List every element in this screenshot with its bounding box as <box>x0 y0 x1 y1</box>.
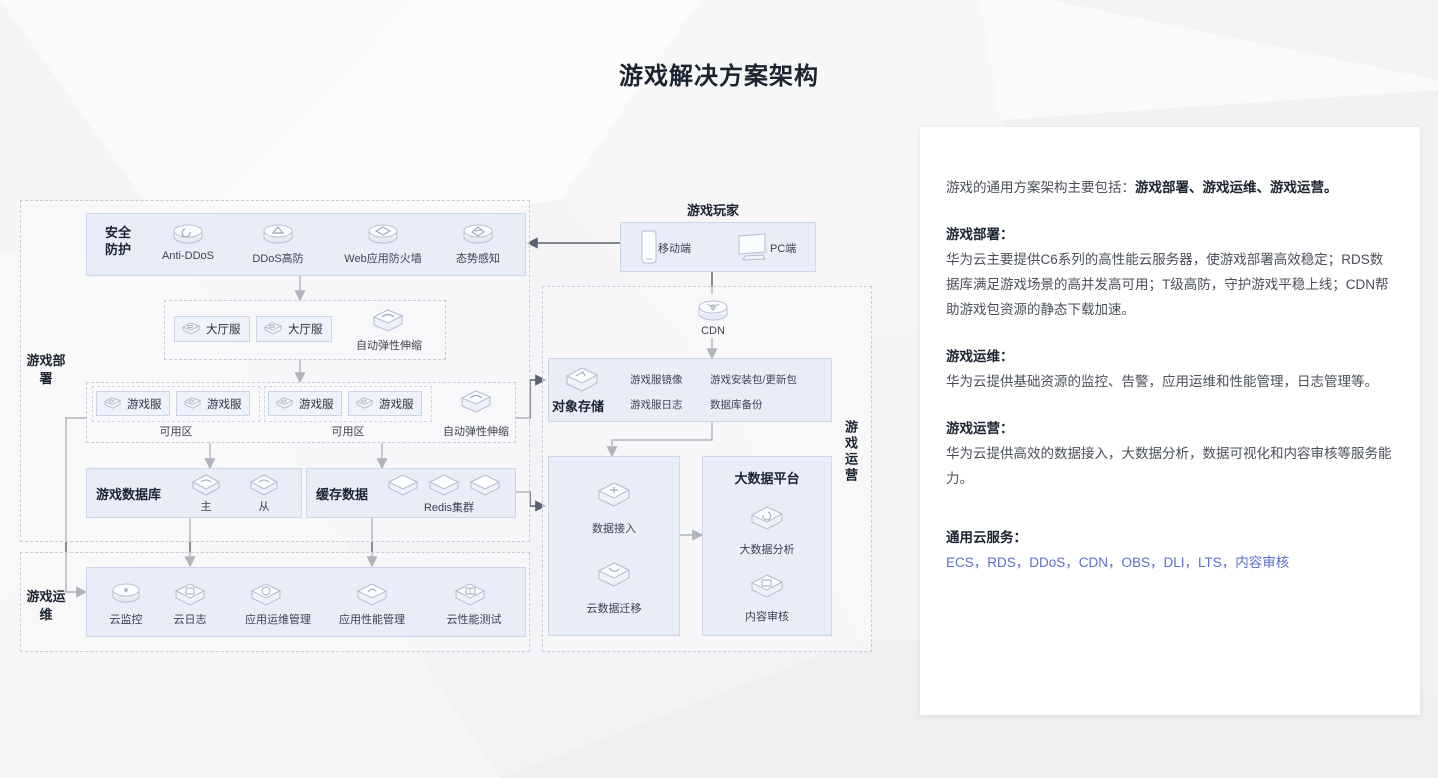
shield-disc-icon <box>168 218 208 253</box>
az-label-1: 可用区 <box>136 423 216 439</box>
players-client-label-0: 移动端 <box>658 240 708 256</box>
server-icon <box>355 396 374 411</box>
info-lead-bold: 游戏部署、游戏运维、游戏运营。 <box>1135 180 1338 195</box>
info-section-heading-2: 游戏运营： <box>946 416 1394 441</box>
maintenance-label-1: 云日志 <box>160 611 220 627</box>
game-server-1[interactable]: 游戏服 <box>176 391 250 416</box>
info-section-body-0: 华为云主要提供C6系列的高性能云服务器，使游戏部署高效稳定；RDS数据库满足游戏… <box>946 247 1394 322</box>
desktop-icon <box>735 230 771 269</box>
bigdata-label-1: 内容审核 <box>717 608 817 624</box>
obs-item-2: 游戏服日志 <box>630 397 720 412</box>
services-list[interactable]: ECS，RDS，DDoS，CDN，OBS，DLI，LTS，内容审核 <box>946 550 1394 576</box>
mobile-icon <box>638 228 660 271</box>
lobby-server-label-0: 大厅服 <box>206 321 241 337</box>
services-heading: 通用云服务： <box>946 525 1394 550</box>
obs-item-1: 游戏安装包/更新包 <box>710 372 830 387</box>
maintenance-label-3: 应用性能管理 <box>320 611 424 627</box>
data-intake-label-1: 云数据迁移 <box>564 600 664 616</box>
obs-item-0: 游戏服镜像 <box>630 372 720 387</box>
info-section-body-1: 华为云提供基础资源的监控、告警，应用运维和性能管理，日志管理等。 <box>946 369 1394 394</box>
info-section-services: 通用云服务： ECS，RDS，DDoS，CDN，OBS，DLI，LTS，内容审核 <box>946 525 1394 576</box>
game-server-0[interactable]: 游戏服 <box>96 391 170 416</box>
obs-item-3: 数据库备份 <box>710 397 830 412</box>
database-title: 游戏数据库 <box>96 486 161 503</box>
info-section-operation: 游戏运营： 华为云提供高效的数据接入，大数据分析，数据可视化和内容审核等服务能力… <box>946 416 1394 491</box>
lobby-server-1[interactable]: 大厅服 <box>256 316 332 342</box>
zone-label-game-operation: 游戏运营 <box>840 420 860 484</box>
security-item-label-2: Web应用防火墙 <box>333 250 433 266</box>
gameserver-autoscale-label: 自动弹性伸缩 <box>430 423 522 439</box>
game-server-label-1: 游戏服 <box>207 396 242 412</box>
info-section-heading-1: 游戏运维： <box>946 344 1394 369</box>
obs-icon <box>562 363 602 400</box>
cache-title: 缓存数据 <box>316 486 368 503</box>
server-icon <box>183 396 202 411</box>
database-primary-label: 主 <box>186 498 226 514</box>
cdn-label: CDN <box>688 325 738 337</box>
info-section-heading-0: 游戏部署： <box>946 222 1394 247</box>
cpts-icon <box>452 578 488 613</box>
info-lead: 游戏的通用方案架构主要包括：游戏部署、游戏运维、游戏运营。 <box>946 175 1394 200</box>
game-server-3[interactable]: 游戏服 <box>348 391 422 416</box>
info-section-ops: 游戏运维： 华为云提供基础资源的监控、告警，应用运维和性能管理，日志管理等。 <box>946 344 1394 394</box>
log-icon <box>172 578 208 613</box>
analytics-icon <box>748 502 786 539</box>
players-title: 游戏玩家 <box>620 200 806 219</box>
lobby-autoscale-label: 自动弹性伸缩 <box>343 337 435 353</box>
server-icon <box>263 321 283 337</box>
firewall-icon <box>363 218 403 253</box>
apm-icon <box>354 578 390 613</box>
lobby-server-label-1: 大厅服 <box>288 321 323 337</box>
security-item-label-3: 态势感知 <box>438 250 518 266</box>
radar-icon <box>458 218 498 253</box>
shield-triangle-icon <box>258 218 298 253</box>
players-client-label-1: PC端 <box>770 240 816 256</box>
info-card: 游戏的通用方案架构主要包括：游戏部署、游戏运维、游戏运营。 游戏部署： 华为云主… <box>920 127 1420 715</box>
game-server-label-0: 游戏服 <box>127 396 162 412</box>
redis-cluster-label: Redis集群 <box>394 499 504 515</box>
bigdata-label-0: 大数据分析 <box>717 541 817 557</box>
database-standby-label: 从 <box>244 498 284 514</box>
game-server-2[interactable]: 游戏服 <box>268 391 342 416</box>
page-title: 游戏解决方案架构 <box>0 56 1438 91</box>
maintenance-label-0: 云监控 <box>96 611 156 627</box>
data-intake-label-0: 数据接入 <box>570 520 658 536</box>
game-server-label-3: 游戏服 <box>379 396 414 412</box>
game-server-label-2: 游戏服 <box>299 396 334 412</box>
architecture-diagram: 游戏部署 安全 防护 Anti-DDoS DDoS高防 Web应 <box>0 0 900 700</box>
server-icon <box>275 396 294 411</box>
moderation-icon <box>748 570 786 607</box>
monitor-disc-icon <box>108 578 144 613</box>
maintenance-label-2: 应用运维管理 <box>226 611 330 627</box>
autoscale-icon <box>458 386 494 423</box>
info-section-body-2: 华为云提供高效的数据接入，大数据分析，数据可视化和内容审核等服务能力。 <box>946 441 1394 491</box>
aom-icon <box>248 578 284 613</box>
cdm-icon <box>594 558 634 595</box>
info-section-deploy: 游戏部署： 华为云主要提供C6系列的高性能云服务器，使游戏部署高效稳定；RDS数… <box>946 222 1394 322</box>
dis-icon <box>594 478 634 515</box>
security-item-label-1: DDoS高防 <box>238 250 318 266</box>
lobby-server-0[interactable]: 大厅服 <box>174 316 250 342</box>
server-icon <box>181 321 201 337</box>
zone-label-game-deploy: 游戏部署 <box>24 352 68 388</box>
security-item-label-0: Anti-DDoS <box>148 250 228 262</box>
az-label-2: 可用区 <box>308 423 388 439</box>
server-icon <box>103 396 122 411</box>
obs-title: 对象存储 <box>552 398 604 415</box>
zone-label-game-maintenance: 游戏运维 <box>24 588 68 624</box>
maintenance-label-4: 云性能测试 <box>428 611 520 627</box>
bigdata-title: 大数据平台 <box>702 470 832 487</box>
security-title: 安全 防护 <box>98 224 138 258</box>
info-lead-prefix: 游戏的通用方案架构主要包括： <box>946 180 1135 195</box>
